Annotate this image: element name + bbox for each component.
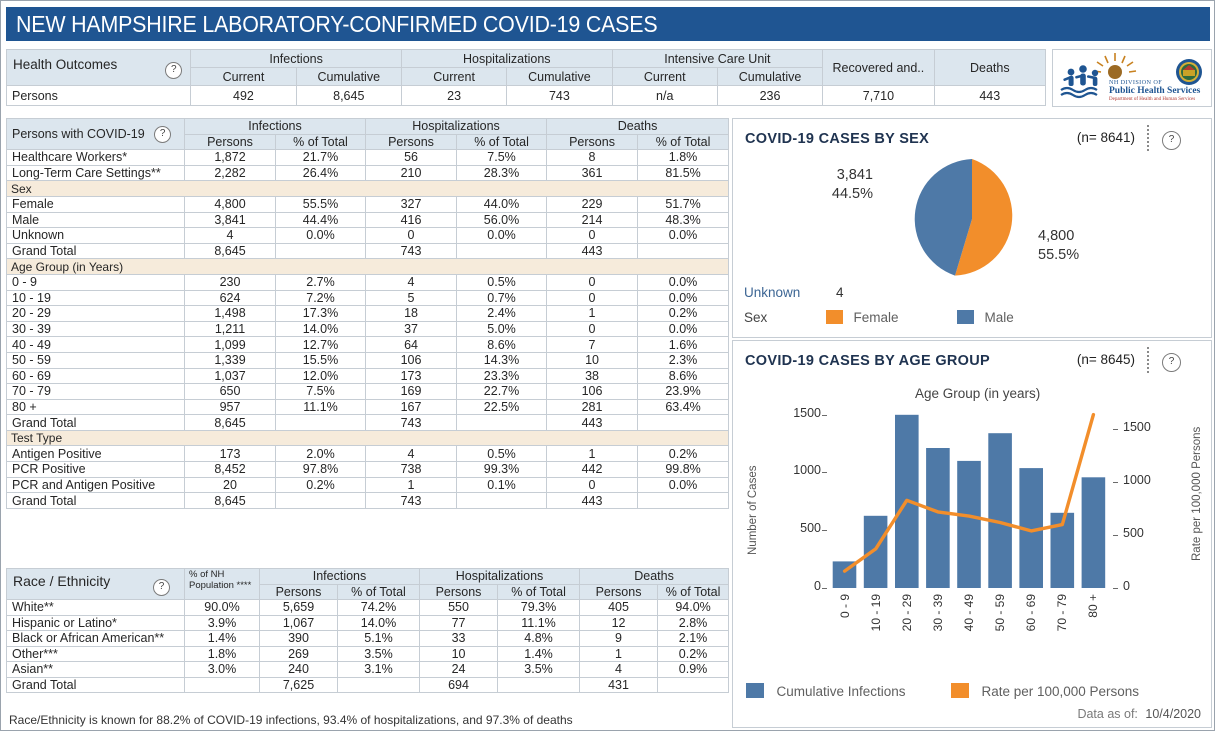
cell-4: 38 xyxy=(547,368,638,384)
table-row: 10 - 196247.2%50.7%00.0% xyxy=(7,290,729,306)
cell-0: 90.0% xyxy=(185,600,260,616)
cell-5: 48.3% xyxy=(638,212,729,228)
row-label: Other*** xyxy=(7,646,185,662)
ho-sub-0: Current xyxy=(191,68,296,86)
cell-1: 26.4% xyxy=(276,165,366,181)
pwc-sub-1: % of Total xyxy=(276,134,366,150)
cell-0: 8,645 xyxy=(185,415,276,431)
cell-2: 173 xyxy=(366,368,457,384)
cell-3: 77 xyxy=(420,615,498,631)
bar[interactable] xyxy=(864,516,888,588)
divider xyxy=(1147,347,1149,373)
cell-1: 0.2% xyxy=(276,477,366,493)
table-row: 0 - 92302.7%40.5%00.0% xyxy=(7,274,729,290)
cell-0: 650 xyxy=(185,384,276,400)
cell-1: 2.7% xyxy=(276,274,366,290)
cell-0: 8,452 xyxy=(185,462,276,478)
row-label: Grand Total xyxy=(7,415,185,431)
cell-0: 1,099 xyxy=(185,337,276,353)
cell-3: 2.4% xyxy=(457,306,547,322)
cell-1: 390 xyxy=(260,631,338,647)
table-row: 70 - 796507.5%16922.7%10623.9% xyxy=(7,384,729,400)
cell-3 xyxy=(457,243,547,259)
cell-5: 12 xyxy=(580,615,658,631)
pwc-title-cell: Persons with COVID-19 ? xyxy=(7,119,185,150)
cell-1: 44.4% xyxy=(276,212,366,228)
race-group-deaths: Deaths xyxy=(580,569,729,585)
table-row: Asian**3.0%2403.1%243.5%40.9% xyxy=(7,662,729,678)
age-chart-plot xyxy=(829,403,1109,588)
cell-5: 0.0% xyxy=(638,477,729,493)
bar[interactable] xyxy=(926,448,950,588)
cell-1: 7,625 xyxy=(260,677,338,693)
cell-2: 327 xyxy=(366,196,457,212)
y-tick-mark xyxy=(822,530,827,531)
section-row: Age Group (in Years) xyxy=(7,259,729,275)
cell-5: 1.8% xyxy=(638,150,729,166)
ho-val-5: 236 xyxy=(717,86,822,106)
cell-2: 169 xyxy=(366,384,457,400)
cell-2: 210 xyxy=(366,165,457,181)
cell-2: 1 xyxy=(366,477,457,493)
cell-0: 4,800 xyxy=(185,196,276,212)
cell-6: 0.9% xyxy=(658,662,729,678)
x-tick-label: 80 + xyxy=(1086,594,1100,618)
race-group-infections: Infections xyxy=(260,569,420,585)
legend-item-rate[interactable]: Rate per 100,000 Persons xyxy=(951,683,1139,701)
row-label: 0 - 9 xyxy=(7,274,185,290)
cell-2: 4 xyxy=(366,274,457,290)
logo-svg: NH DIVISION OF Public Health Services De… xyxy=(1053,50,1209,104)
health-outcomes-title-cell: Health Outcomes ? xyxy=(7,50,191,86)
ho-sub-3: Cumulative xyxy=(507,68,612,86)
cell-3: 28.3% xyxy=(457,165,547,181)
x-tick-label: 50 - 59 xyxy=(993,594,1007,631)
pwc-group-infections: Infections xyxy=(185,119,366,135)
cell-0: 20 xyxy=(185,477,276,493)
cell-6: 2.1% xyxy=(658,631,729,647)
ho-val-7: 443 xyxy=(934,86,1045,106)
row-label: PCR and Antigen Positive xyxy=(7,477,185,493)
y2-tick-mark xyxy=(1113,482,1118,483)
row-label: 60 - 69 xyxy=(7,368,185,384)
ho-group-hospitalizations: Hospitalizations xyxy=(401,50,612,68)
y2-tick-label: 500 xyxy=(1123,526,1169,540)
sex-chart-n: (n= 8641) xyxy=(1077,130,1135,145)
race-title-cell: Race / Ethnicity ? xyxy=(7,569,185,600)
health-outcomes-table: Health Outcomes ? Infections Hospitaliza… xyxy=(6,49,1046,106)
cell-1: 5,659 xyxy=(260,600,338,616)
x-tick-label: 40 - 49 xyxy=(962,594,976,631)
legend-label-female: Female xyxy=(853,310,898,325)
legend-swatch-male xyxy=(957,310,974,324)
y2-tick-mark xyxy=(1113,535,1118,536)
cell-2: 4 xyxy=(366,446,457,462)
x-tick-label: 60 - 69 xyxy=(1024,594,1038,631)
cell-1: 12.7% xyxy=(276,337,366,353)
cell-4: 361 xyxy=(547,165,638,181)
cell-4: 0 xyxy=(547,477,638,493)
cell-0: 1,872 xyxy=(185,150,276,166)
cell-5 xyxy=(638,415,729,431)
sex-legend-title: Sex xyxy=(744,310,767,325)
x-tick-label: 70 - 79 xyxy=(1055,594,1069,631)
race-sub-0: Persons xyxy=(260,584,338,600)
race-group-hospitalizations: Hospitalizations xyxy=(420,569,580,585)
ho-sub-1: Cumulative xyxy=(296,68,401,86)
cell-2: 74.2% xyxy=(338,600,420,616)
cell-5: 99.8% xyxy=(638,462,729,478)
cell-5: 431 xyxy=(580,677,658,693)
cell-2 xyxy=(338,677,420,693)
cell-1: 0.0% xyxy=(276,228,366,244)
page-title-bar: NEW HAMPSHIRE LABORATORY-CONFIRMED COVID… xyxy=(6,7,1210,41)
cell-1: 269 xyxy=(260,646,338,662)
cell-1: 12.0% xyxy=(276,368,366,384)
cell-4: 281 xyxy=(547,399,638,415)
y-tick-mark xyxy=(822,588,827,589)
section-label: Age Group (in Years) xyxy=(7,259,729,275)
cell-4: 0 xyxy=(547,290,638,306)
ho-group-icu: Intensive Care Unit xyxy=(612,50,823,68)
legend-swatch-line xyxy=(951,683,969,698)
cell-2: 37 xyxy=(366,321,457,337)
table-row: Healthcare Workers*1,87221.7%567.5%81.8% xyxy=(7,150,729,166)
table-row: 30 - 391,21114.0%375.0%00.0% xyxy=(7,321,729,337)
cell-5: 0.0% xyxy=(638,228,729,244)
cell-1: 97.8% xyxy=(276,462,366,478)
cell-5: 4 xyxy=(580,662,658,678)
cell-0: 8,645 xyxy=(185,493,276,509)
cell-3: 0.7% xyxy=(457,290,547,306)
cell-6: 2.8% xyxy=(658,615,729,631)
cell-1: 1,067 xyxy=(260,615,338,631)
cell-3 xyxy=(457,415,547,431)
cell-3: 14.3% xyxy=(457,352,547,368)
cell-0: 957 xyxy=(185,399,276,415)
legend-label-male: Male xyxy=(984,310,1013,325)
ho-val-1: 8,645 xyxy=(296,86,401,106)
pie-label-female-value: 4,800 xyxy=(1038,227,1074,246)
cell-4: 7 xyxy=(547,337,638,353)
cell-4: 1 xyxy=(547,306,638,322)
cell-1: 15.5% xyxy=(276,352,366,368)
section-row: Test Type xyxy=(7,430,729,446)
table-row: White**90.0%5,65974.2%55079.3%40594.0% xyxy=(7,600,729,616)
y-tick-label: 500 xyxy=(777,521,821,535)
cell-0: 3.9% xyxy=(185,615,260,631)
ho-sub-2: Current xyxy=(401,68,506,86)
table-row: 20 - 291,49817.3%182.4%10.2% xyxy=(7,306,729,322)
row-label: Grand Total xyxy=(7,677,185,693)
health-outcomes-title: Health Outcomes xyxy=(13,57,117,72)
legend-swatch-bar xyxy=(746,683,764,698)
cell-1: 7.2% xyxy=(276,290,366,306)
y2-tick-mark xyxy=(1113,588,1118,589)
y2-tick-label: 1000 xyxy=(1123,473,1169,487)
legend-item-female[interactable]: Female xyxy=(826,309,898,327)
pwc-title: Persons with COVID-19 xyxy=(12,126,145,140)
cell-2: 416 xyxy=(366,212,457,228)
row-label: Asian** xyxy=(7,662,185,678)
cell-6: 0.2% xyxy=(658,646,729,662)
cell-2: 0 xyxy=(366,228,457,244)
svg-text:Department of Health and Human: Department of Health and Human Services xyxy=(1109,97,1195,102)
y-tick-label: 1000 xyxy=(777,463,821,477)
bar[interactable] xyxy=(988,433,1012,588)
race-sub-1: % of Total xyxy=(338,584,420,600)
table-row: Grand Total8,645743443 xyxy=(7,243,729,259)
cell-4: 0 xyxy=(547,274,638,290)
cell-0: 624 xyxy=(185,290,276,306)
cell-4: 214 xyxy=(547,212,638,228)
cell-5: 0.0% xyxy=(638,274,729,290)
cell-4: 8 xyxy=(547,150,638,166)
row-label: Male xyxy=(7,212,185,228)
cell-5: 81.5% xyxy=(638,165,729,181)
cell-4: 79.3% xyxy=(498,600,580,616)
cell-2: 18 xyxy=(366,306,457,322)
pwc-group-deaths: Deaths xyxy=(547,119,729,135)
age-chart-n: (n= 8645) xyxy=(1077,352,1135,367)
cell-2: 5 xyxy=(366,290,457,306)
row-label: 70 - 79 xyxy=(7,384,185,400)
age-chart-svg xyxy=(829,403,1109,588)
cell-1 xyxy=(276,493,366,509)
cell-1: 55.5% xyxy=(276,196,366,212)
table-row: 40 - 491,09912.7%648.6%71.6% xyxy=(7,337,729,353)
table-row: Grand Total7,625694431 xyxy=(7,677,729,693)
race-sub-3: % of Total xyxy=(498,584,580,600)
cell-5 xyxy=(638,243,729,259)
row-label: Black or African American** xyxy=(7,631,185,647)
cell-3: 33 xyxy=(420,631,498,647)
row-label: Antigen Positive xyxy=(7,446,185,462)
svg-text:NH DIVISION OF: NH DIVISION OF xyxy=(1109,79,1162,86)
cell-3: 56.0% xyxy=(457,212,547,228)
table-row: Persons 492 8,645 23 743 n/a 236 7,710 4… xyxy=(7,86,1046,106)
cell-5: 51.7% xyxy=(638,196,729,212)
help-icon[interactable]: ? xyxy=(165,62,182,79)
help-icon[interactable]: ? xyxy=(153,579,170,596)
y-tick-mark xyxy=(822,415,827,416)
age-chart-subtitle: Age Group (in years) xyxy=(915,386,1040,401)
data-as-of-label: Data as of: xyxy=(1077,707,1137,721)
ho-val-2: 23 xyxy=(401,86,506,106)
table-row: Grand Total8,645743443 xyxy=(7,493,729,509)
bar[interactable] xyxy=(957,461,981,588)
cell-3: 694 xyxy=(420,677,498,693)
legend-item-cumulative-infections[interactable]: Cumulative Infections xyxy=(746,683,906,701)
bar[interactable] xyxy=(1082,477,1106,588)
cell-6: 94.0% xyxy=(658,600,729,616)
cell-4: 10 xyxy=(547,352,638,368)
table-row: PCR and Antigen Positive200.2%10.1%00.0% xyxy=(7,477,729,493)
cell-2: 64 xyxy=(366,337,457,353)
cell-1: 7.5% xyxy=(276,384,366,400)
row-label: Female xyxy=(7,196,185,212)
sex-chart-title: COVID-19 CASES BY SEX xyxy=(745,131,929,147)
cell-4: 0 xyxy=(547,228,638,244)
cell-2: 743 xyxy=(366,415,457,431)
cell-3 xyxy=(457,493,547,509)
row-label: Hispanic or Latino* xyxy=(7,615,185,631)
y-tick-mark xyxy=(822,472,827,473)
row-label: 10 - 19 xyxy=(7,290,185,306)
pwc-group-hospitalizations: Hospitalizations xyxy=(366,119,547,135)
page-title: NEW HAMPSHIRE LABORATORY-CONFIRMED COVID… xyxy=(16,11,657,38)
cell-3: 8.6% xyxy=(457,337,547,353)
table-row: Black or African American**1.4%3905.1%33… xyxy=(7,631,729,647)
ho-sub-4: Current xyxy=(612,68,717,86)
cell-5: 8.6% xyxy=(638,368,729,384)
cell-3: 22.7% xyxy=(457,384,547,400)
cell-5: 1 xyxy=(580,646,658,662)
cell-2: 738 xyxy=(366,462,457,478)
y2-tick-mark xyxy=(1113,429,1118,430)
cell-5: 9 xyxy=(580,631,658,647)
age-chart-ylabel: Number of Cases xyxy=(747,435,759,555)
race-sub-4: Persons xyxy=(580,584,658,600)
race-ethnicity-table: Race / Ethnicity ? % of NH Population **… xyxy=(6,568,729,693)
x-tick-label: 20 - 29 xyxy=(900,594,914,631)
row-label: 40 - 49 xyxy=(7,337,185,353)
section-label: Sex xyxy=(7,181,729,197)
persons-with-covid-table: Persons with COVID-19 ? Infections Hospi… xyxy=(6,118,729,509)
row-label: Grand Total xyxy=(7,243,185,259)
cell-0: 3.0% xyxy=(185,662,260,678)
cell-1: 21.7% xyxy=(276,150,366,166)
ho-val-3: 743 xyxy=(507,86,612,106)
cases-by-sex-panel: COVID-19 CASES BY SEX (n= 8641) ? 3,841 … xyxy=(732,118,1212,338)
unknown-value: 4 xyxy=(836,285,844,300)
race-sub-5: % of Total xyxy=(658,584,729,600)
age-chart-title: COVID-19 CASES BY AGE GROUP xyxy=(745,353,990,369)
svg-text:Public Health Services: Public Health Services xyxy=(1109,86,1201,96)
cell-4: 4.8% xyxy=(498,631,580,647)
cell-2: 167 xyxy=(366,399,457,415)
cell-3: 550 xyxy=(420,600,498,616)
row-label: Unknown xyxy=(7,228,185,244)
row-label: Grand Total xyxy=(7,493,185,509)
pie-label-male-pct: 44.5% xyxy=(763,185,873,204)
cell-4: 106 xyxy=(547,384,638,400)
cell-5 xyxy=(638,493,729,509)
y-tick-label: 1500 xyxy=(777,406,821,420)
row-label: 80 + xyxy=(7,399,185,415)
table-row: 60 - 691,03712.0%17323.3%388.6% xyxy=(7,368,729,384)
race-sub-2: Persons xyxy=(420,584,498,600)
table-row: Grand Total8,645743443 xyxy=(7,415,729,431)
cell-1: 17.3% xyxy=(276,306,366,322)
ho-group-deaths: Deaths xyxy=(934,50,1045,86)
pwc-sub-4: Persons xyxy=(547,134,638,150)
help-icon[interactable]: ? xyxy=(154,126,171,143)
divider xyxy=(1147,125,1149,151)
cell-0: 1,037 xyxy=(185,368,276,384)
table-row: Female4,80055.5%32744.0%22951.7% xyxy=(7,196,729,212)
cell-3: 10 xyxy=(420,646,498,662)
legend-label-bar: Cumulative Infections xyxy=(776,684,905,699)
row-label: 50 - 59 xyxy=(7,352,185,368)
data-as-of: Data as of: 10/4/2020 xyxy=(1077,707,1201,721)
ho-group-recovered: Recovered and.. xyxy=(823,50,934,86)
pwc-sub-0: Persons xyxy=(185,134,276,150)
race-footnote: Race/Ethnicity is known for 88.2% of COV… xyxy=(9,713,573,727)
ho-val-4: n/a xyxy=(612,86,717,106)
cell-2: 743 xyxy=(366,243,457,259)
row-label: Healthcare Workers* xyxy=(7,150,185,166)
cell-2: 56 xyxy=(366,150,457,166)
cell-2: 3.5% xyxy=(338,646,420,662)
dashboard-root: NEW HAMPSHIRE LABORATORY-CONFIRMED COVID… xyxy=(0,0,1215,731)
cell-5: 405 xyxy=(580,600,658,616)
cell-1: 11.1% xyxy=(276,399,366,415)
cell-3: 5.0% xyxy=(457,321,547,337)
ho-val-0: 492 xyxy=(191,86,296,106)
cell-3: 22.5% xyxy=(457,399,547,415)
cell-6 xyxy=(658,677,729,693)
cell-2: 14.0% xyxy=(338,615,420,631)
legend-item-male[interactable]: Male xyxy=(957,309,1014,327)
y-tick-label: 0 xyxy=(777,579,821,593)
help-icon[interactable]: ? xyxy=(1162,353,1181,372)
cell-3: 0.5% xyxy=(457,274,547,290)
cell-5: 0.0% xyxy=(638,290,729,306)
row-label: Long-Term Care Settings** xyxy=(7,165,185,181)
cell-0: 230 xyxy=(185,274,276,290)
cell-4: 11.1% xyxy=(498,615,580,631)
cell-0: 8,645 xyxy=(185,243,276,259)
cell-4 xyxy=(498,677,580,693)
sex-pie-chart xyxy=(909,156,1035,282)
race-body: White**90.0%5,65974.2%55079.3%40594.0%Hi… xyxy=(7,600,729,693)
table-row: Other***1.8%2693.5%101.4%10.2% xyxy=(7,646,729,662)
unknown-label: Unknown xyxy=(744,285,800,300)
row-label: White** xyxy=(7,600,185,616)
cell-3: 24 xyxy=(420,662,498,678)
pie-label-female-pct: 55.5% xyxy=(1038,246,1079,265)
cell-2: 106 xyxy=(366,352,457,368)
section-label: Test Type xyxy=(7,430,729,446)
help-icon[interactable]: ? xyxy=(1162,131,1181,150)
race-pop-header: % of NH Population **** xyxy=(185,569,260,600)
nh-dphs-logo: NH DIVISION OF Public Health Services De… xyxy=(1052,49,1212,107)
cell-2: 743 xyxy=(366,493,457,509)
cell-5: 0.0% xyxy=(638,321,729,337)
table-row: Unknown40.0%00.0%00.0% xyxy=(7,228,729,244)
cell-0: 2,282 xyxy=(185,165,276,181)
race-title: Race / Ethnicity xyxy=(13,573,110,589)
table-row: Long-Term Care Settings**2,28226.4%21028… xyxy=(7,165,729,181)
cell-4: 443 xyxy=(547,493,638,509)
cell-1 xyxy=(276,415,366,431)
cell-1 xyxy=(276,243,366,259)
table-row: 80 +95711.1%16722.5%28163.4% xyxy=(7,399,729,415)
x-tick-label: 0 - 9 xyxy=(838,594,852,618)
cell-4: 1 xyxy=(547,446,638,462)
pie-label-male-value: 3,841 xyxy=(763,166,873,185)
y2-tick-label: 1500 xyxy=(1123,420,1169,434)
ho-val-6: 7,710 xyxy=(823,86,934,106)
ho-sub-5: Cumulative xyxy=(717,68,822,86)
table-row: Hispanic or Latino*3.9%1,06714.0%7711.1%… xyxy=(7,615,729,631)
cell-5: 0.2% xyxy=(638,306,729,322)
pwc-sub-5: % of Total xyxy=(638,134,729,150)
x-tick-label: 10 - 19 xyxy=(869,594,883,631)
row-label: 30 - 39 xyxy=(7,321,185,337)
cell-0 xyxy=(185,677,260,693)
